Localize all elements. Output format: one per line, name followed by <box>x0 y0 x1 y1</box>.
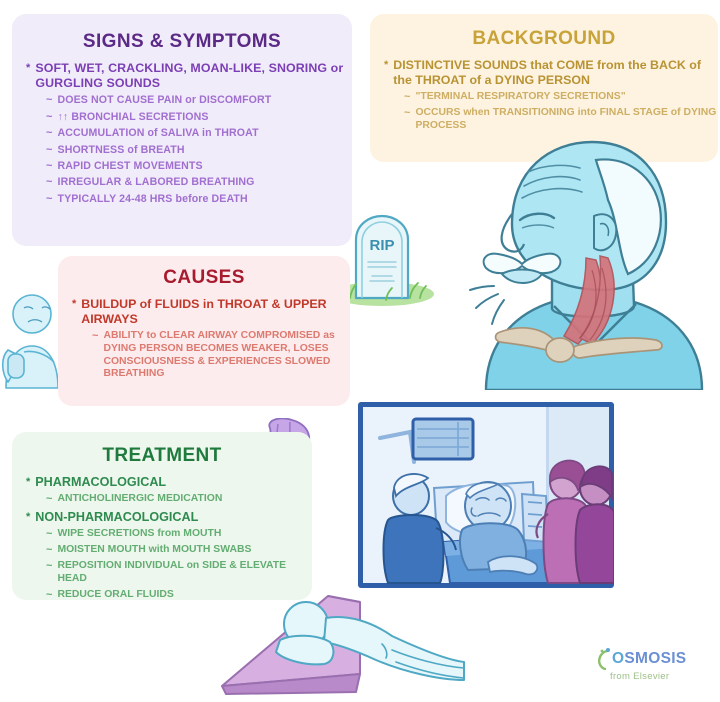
list-item-label: OCCURS when TRANSITIONING into FINAL STA… <box>415 107 718 132</box>
bullet-star-icon: * <box>26 510 30 525</box>
osmosis-logo-o: O <box>612 650 624 667</box>
list-item-label: DOES NOT CAUSE PAIN or DISCOMFORT <box>58 94 352 107</box>
panel-title-treatment: TREATMENT <box>12 445 312 467</box>
list-item: ~WIPE SECRETIONS from MOUTH <box>12 528 312 541</box>
osmosis-logo-tagline: from Elsevier <box>610 671 708 682</box>
panel-treatment: TREATMENT *PHARMACOLOGICAL~ANTICHOLINERG… <box>12 432 312 600</box>
elderly-man-throat-anatomy-illustration <box>468 138 720 390</box>
list-item: ~↑↑ BRONCHIAL SECRETIONS <box>12 111 352 124</box>
causes-item-list: *BUILDUP of FLUIDS in THROAT & UPPER AIR… <box>58 297 350 381</box>
bullet-star-icon: * <box>26 475 30 490</box>
list-item-label: RAPID CHEST MOVEMENTS <box>58 160 352 173</box>
list-item: ~REPOSITION INDIVIDUAL on SIDE & ELEVATE… <box>12 560 312 585</box>
treatment-item-list: *PHARMACOLOGICAL~ANTICHOLINERGIC MEDICAT… <box>12 475 312 602</box>
list-item-label: ↑↑ BRONCHIAL SECRETIONS <box>58 111 352 124</box>
list-item: ~ACCUMULATION of SALIVA in THROAT <box>12 127 352 140</box>
osmosis-logo: OSMOSIS from Elsevier <box>596 648 708 692</box>
list-item: ~SHORTNESS of BREATH <box>12 144 352 157</box>
panel-title-causes: CAUSES <box>58 267 350 289</box>
bullet-tilde-icon: ~ <box>404 91 410 103</box>
list-item-label: DISTINCTIVE SOUNDS that COME from the BA… <box>393 58 718 88</box>
list-item-label: PHARMACOLOGICAL <box>35 475 312 490</box>
list-item-label: BUILDUP of FLUIDS in THROAT & UPPER AIRW… <box>81 297 350 327</box>
list-item-label: IRREGULAR & LABORED BREATHING <box>58 176 352 189</box>
bullet-tilde-icon: ~ <box>46 144 53 156</box>
bullet-tilde-icon: ~ <box>46 111 53 123</box>
list-item: *NON-PHARMACOLOGICAL <box>12 510 312 525</box>
list-item-label: SHORTNESS of BREATH <box>58 144 352 157</box>
list-item-label: "TERMINAL RESPIRATORY SECRETIONS" <box>415 91 718 104</box>
osmosis-logo-name: SMOSIS <box>624 650 686 667</box>
list-item-label: SOFT, WET, CRACKLING, MOAN-LIKE, SNORING… <box>35 61 352 91</box>
bullet-tilde-icon: ~ <box>46 160 53 172</box>
infographic-canvas: SIGNS & SYMPTOMS *SOFT, WET, CRACKLING, … <box>0 0 720 702</box>
bullet-tilde-icon: ~ <box>92 330 98 342</box>
bullet-tilde-icon: ~ <box>46 560 52 572</box>
gravestone-label: RIP <box>369 237 394 254</box>
bullet-tilde-icon: ~ <box>404 107 410 119</box>
bullet-tilde-icon: ~ <box>46 589 52 601</box>
list-item: *PHARMACOLOGICAL <box>12 475 312 490</box>
bullet-tilde-icon: ~ <box>46 528 52 540</box>
coughing-person-figure-illustration <box>0 292 64 390</box>
list-item: ~DOES NOT CAUSE PAIN or DISCOMFORT <box>12 94 352 107</box>
panel-title-background: BACKGROUND <box>370 28 718 50</box>
panel-title-signs: SIGNS & SYMPTOMS <box>12 31 352 53</box>
list-item: ~ANTICHOLINERGIC MEDICATION <box>12 493 312 506</box>
osmosis-swoosh-icon <box>596 648 612 670</box>
list-item: ~ABILITY to CLEAR AIRWAY COMPROMISED as … <box>58 330 350 381</box>
hospital-bedside-scene-illustration <box>358 402 614 588</box>
bullet-tilde-icon: ~ <box>46 544 52 556</box>
list-item-label: ABILITY to CLEAR AIRWAY COMPROMISED as D… <box>103 330 350 381</box>
list-item-label: MOISTEN MOUTH with MOUTH SWABS <box>57 544 312 557</box>
bullet-tilde-icon: ~ <box>46 127 53 139</box>
list-item: ~RAPID CHEST MOVEMENTS <box>12 160 352 173</box>
list-item-label: TYPICALLY 24-48 HRS before DEATH <box>58 193 352 206</box>
bullet-star-icon: * <box>72 297 76 312</box>
list-item-label: WIPE SECRETIONS from MOUTH <box>57 528 312 541</box>
list-item: *DISTINCTIVE SOUNDS that COME from the B… <box>370 58 718 88</box>
list-item: ~TYPICALLY 24-48 HRS before DEATH <box>12 193 352 206</box>
bullet-star-icon: * <box>26 61 30 76</box>
list-item: ~OCCURS when TRANSITIONING into FINAL ST… <box>370 107 718 132</box>
wedge-pillow-positioning-illustration <box>196 588 466 700</box>
background-item-list: *DISTINCTIVE SOUNDS that COME from the B… <box>370 58 718 133</box>
list-item: ~"TERMINAL RESPIRATORY SECRETIONS" <box>370 91 718 104</box>
signs-item-list: *SOFT, WET, CRACKLING, MOAN-LIKE, SNORIN… <box>12 61 352 206</box>
bullet-tilde-icon: ~ <box>46 94 53 106</box>
list-item-label: NON-PHARMACOLOGICAL <box>35 510 312 525</box>
panel-causes: CAUSES *BUILDUP of FLUIDS in THROAT & UP… <box>58 256 350 406</box>
list-item: *BUILDUP of FLUIDS in THROAT & UPPER AIR… <box>58 297 350 327</box>
bullet-tilde-icon: ~ <box>46 176 53 188</box>
list-item-label: ANTICHOLINERGIC MEDICATION <box>57 493 312 506</box>
list-item: ~IRREGULAR & LABORED BREATHING <box>12 176 352 189</box>
osmosis-logo-text: OSMOSIS <box>612 650 686 668</box>
list-item-label: ACCUMULATION of SALIVA in THROAT <box>58 127 352 140</box>
list-item: *SOFT, WET, CRACKLING, MOAN-LIKE, SNORIN… <box>12 61 352 91</box>
bullet-star-icon: * <box>384 58 388 73</box>
bullet-tilde-icon: ~ <box>46 193 53 205</box>
list-item: ~MOISTEN MOUTH with MOUTH SWABS <box>12 544 312 557</box>
bullet-tilde-icon: ~ <box>46 493 52 505</box>
panel-signs-and-symptoms: SIGNS & SYMPTOMS *SOFT, WET, CRACKLING, … <box>12 14 352 246</box>
list-item-label: REPOSITION INDIVIDUAL on SIDE & ELEVATE … <box>57 560 312 585</box>
